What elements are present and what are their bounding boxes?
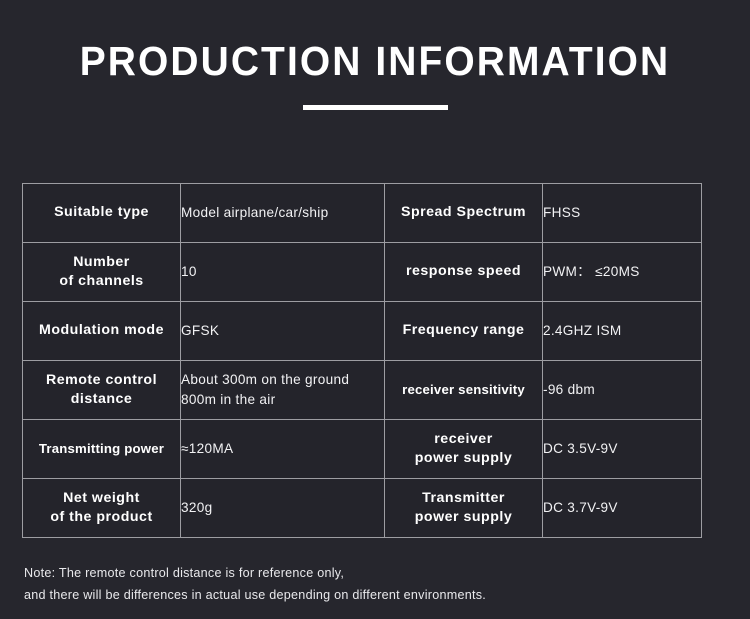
table-row: Net weight of the product 320g Transmitt… (23, 479, 702, 538)
spec-label: Transmitter power supply (385, 479, 543, 538)
table-row: Transmitting power ≈120MA receiver power… (23, 420, 702, 479)
spec-value: 10 (181, 243, 385, 302)
table-row: Suitable type Model airplane/car/ship Sp… (23, 184, 702, 243)
spec-label: receiver sensitivity (385, 361, 543, 420)
spec-value: PWM： ≤20MS (543, 243, 702, 302)
spec-label: Frequency range (385, 302, 543, 361)
spec-value: ≈120MA (181, 420, 385, 479)
spec-value: -96 dbm (543, 361, 702, 420)
spec-label: response speed (385, 243, 543, 302)
specification-table-container: Suitable type Model airplane/car/ship Sp… (22, 183, 701, 538)
spec-value: Model airplane/car/ship (181, 184, 385, 243)
spec-value: GFSK (181, 302, 385, 361)
table-row: Number of channels 10 response speed PWM… (23, 243, 702, 302)
spec-value: About 300m on the ground 800m in the air (181, 361, 385, 420)
table-row: Modulation mode GFSK Frequency range 2.4… (23, 302, 702, 361)
page-title: PRODUCTION INFORMATION (19, 40, 732, 83)
spec-label: Net weight of the product (23, 479, 181, 538)
spec-label: receiver power supply (385, 420, 543, 479)
page-header: PRODUCTION INFORMATION (0, 0, 750, 110)
spec-label: Modulation mode (23, 302, 181, 361)
spec-label: Remote control distance (23, 361, 181, 420)
spec-label: Transmitting power (23, 420, 181, 479)
spec-label: Suitable type (23, 184, 181, 243)
spec-value: DC 3.5V-9V (543, 420, 702, 479)
spec-value: FHSS (543, 184, 702, 243)
title-underline-rule (303, 105, 448, 110)
specification-table: Suitable type Model airplane/car/ship Sp… (22, 183, 702, 538)
spec-label: Spread Spectrum (385, 184, 543, 243)
footer-note: Note: The remote control distance is for… (24, 563, 486, 606)
spec-value: DC 3.7V-9V (543, 479, 702, 538)
spec-value: 2.4GHZ ISM (543, 302, 702, 361)
spec-value: 320g (181, 479, 385, 538)
table-row: Remote control distance About 300m on th… (23, 361, 702, 420)
spec-label: Number of channels (23, 243, 181, 302)
